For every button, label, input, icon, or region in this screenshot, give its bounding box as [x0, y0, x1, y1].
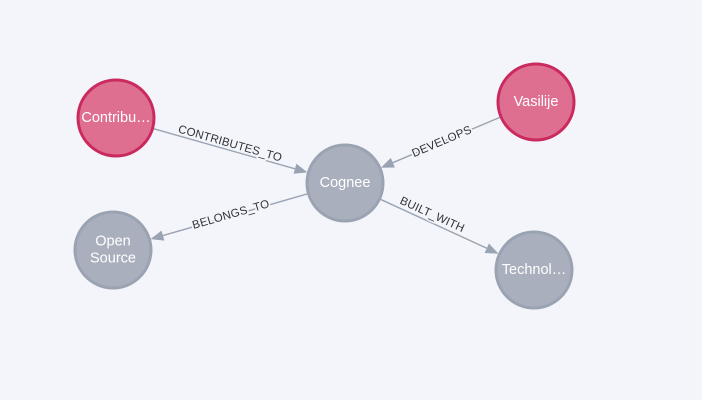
edge-line: [393, 117, 500, 162]
node-circle-contributor[interactable]: [78, 80, 154, 156]
edge-label-built-with: BUILT_WITH: [398, 195, 466, 235]
graph-edge-contributes-to[interactable]: [154, 129, 308, 174]
graph-visualization[interactable]: Contribu…VasilijeCogneeOpenSourceTechnol…: [0, 0, 702, 400]
edge-arrowhead: [150, 231, 164, 241]
graph-node-cognee[interactable]: Cognee: [307, 145, 383, 221]
edge-line: [154, 129, 295, 169]
graph-edge-built-with[interactable]: [380, 199, 498, 253]
node-circle-open-source[interactable]: [75, 212, 151, 288]
graph-edge-develops[interactable]: [381, 117, 500, 168]
edge-arrowhead: [381, 158, 395, 168]
graph-node-vasilije[interactable]: Vasilije: [498, 64, 574, 140]
graph-canvas[interactable]: Contribu…VasilijeCogneeOpenSourceTechnol…: [0, 0, 702, 400]
node-circle-vasilije[interactable]: [498, 64, 574, 140]
graph-node-technology[interactable]: Technol…: [496, 232, 572, 308]
node-circle-technology[interactable]: [496, 232, 572, 308]
edge-line: [380, 199, 486, 248]
edge-arrowhead: [294, 164, 308, 174]
edge-arrowhead: [485, 244, 499, 254]
nodes-layer: Contribu…VasilijeCogneeOpenSourceTechnol…: [75, 64, 574, 308]
graph-node-open-source[interactable]: OpenSource: [75, 212, 151, 288]
edge-label-belongs-to: BELONGS_TO: [191, 198, 271, 232]
graph-edge-belongs-to[interactable]: [150, 194, 307, 241]
graph-node-contributor[interactable]: Contribu…: [78, 80, 154, 156]
edge-line: [163, 194, 308, 236]
node-circle-cognee[interactable]: [307, 145, 383, 221]
edge-label-contributes-to: CONTRIBUTES_TO: [177, 124, 284, 165]
